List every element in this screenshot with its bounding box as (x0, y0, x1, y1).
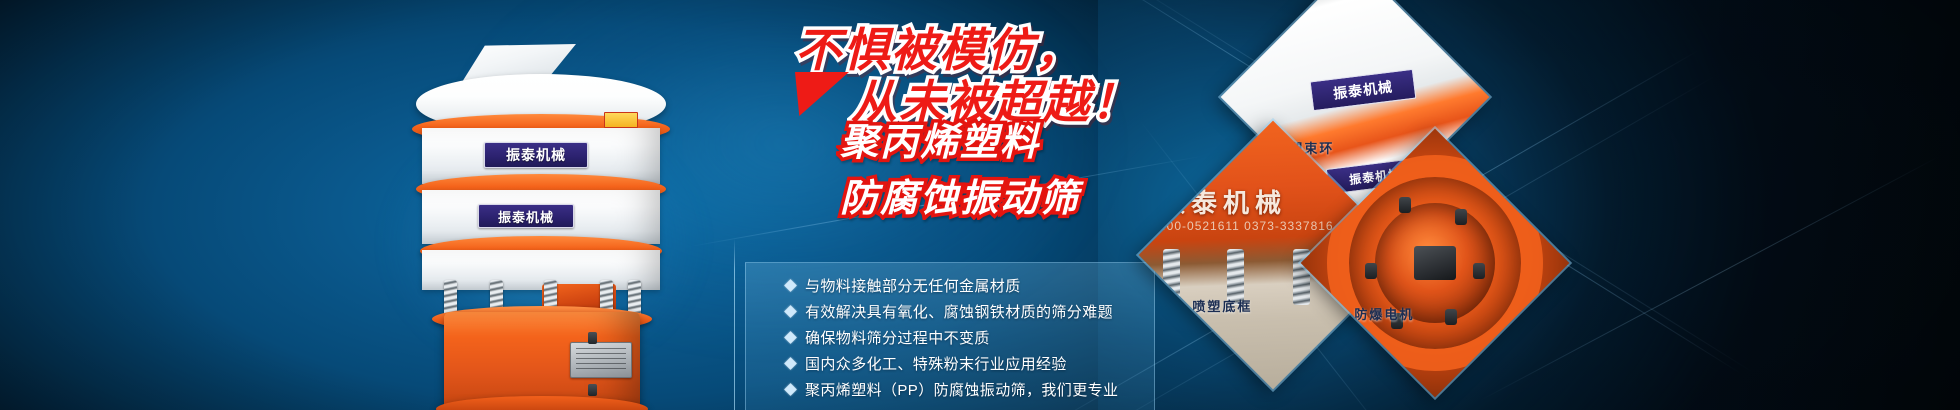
bullet-text: 有效解决具有氧化、腐蚀钢铁材质的筛分难题 (805, 301, 1113, 322)
motor-bolt (1399, 197, 1411, 213)
hero-warning-sticker (604, 112, 638, 128)
tile-brand-plate: 振泰机械 (1310, 69, 1417, 111)
hero-nameplate (570, 342, 632, 378)
diamond-bullet-icon (784, 357, 797, 370)
red-flag-arrow-icon (795, 72, 849, 116)
list-item: 有效解决具有氧化、腐蚀钢铁材质的筛分难题 (786, 298, 1154, 324)
motor-bolt (1473, 263, 1485, 279)
hero-bolt (588, 332, 597, 344)
list-item: 聚丙烯塑料（PP）防腐蚀振动筛，我们更专业 (786, 376, 1154, 402)
motor-bolt (1455, 209, 1467, 225)
bullet-text: 国内众多化工、特殊粉末行业应用经验 (805, 353, 1067, 374)
feature-bullet-panel: 与物料接触部分无任何金属材质 有效解决具有氧化、腐蚀钢铁材质的筛分难题 确保物料… (745, 262, 1155, 410)
diamond-bullet-icon (784, 279, 797, 292)
diamond-bullet-icon (784, 305, 797, 318)
bullet-text: 确保物料筛分过程中不变质 (805, 327, 990, 348)
motor-bolt (1365, 263, 1377, 279)
hero-brand-plate: 振泰机械 (484, 142, 588, 168)
product-detail-tiles: 振泰机械 振泰机械 喷塑束环 振泰机械 400-0521611 0373-333… (1140, 0, 1610, 410)
bullet-text: 聚丙烯塑料（PP）防腐蚀振动筛，我们更专业 (805, 379, 1118, 400)
list-item: 与物料接触部分无任何金属材质 (786, 272, 1154, 298)
list-item: 国内众多化工、特殊粉末行业应用经验 (786, 350, 1154, 376)
spring (1163, 249, 1180, 305)
headline-block: 不惧被模仿， 从未被超越！ (795, 14, 1195, 122)
promo-banner: 振泰机械 振泰机械 不惧被模仿， 从未被超越！ 聚丙烯塑料 防腐蚀振动筛 (0, 0, 1960, 410)
hero-brand-plate: 振泰机械 (478, 204, 574, 228)
diamond-bullet-icon (784, 331, 797, 344)
tile-caption: 喷塑底框 (1139, 296, 1318, 315)
motor-shaft (1414, 246, 1456, 280)
hero-product-image: 振泰机械 振泰机械 (392, 44, 692, 410)
bullet-text: 与物料接触部分无任何金属材质 (805, 275, 1021, 296)
diamond-bullet-icon (784, 383, 797, 396)
hero-bolt (588, 384, 597, 396)
list-item: 确保物料筛分过程中不变质 (786, 324, 1154, 350)
